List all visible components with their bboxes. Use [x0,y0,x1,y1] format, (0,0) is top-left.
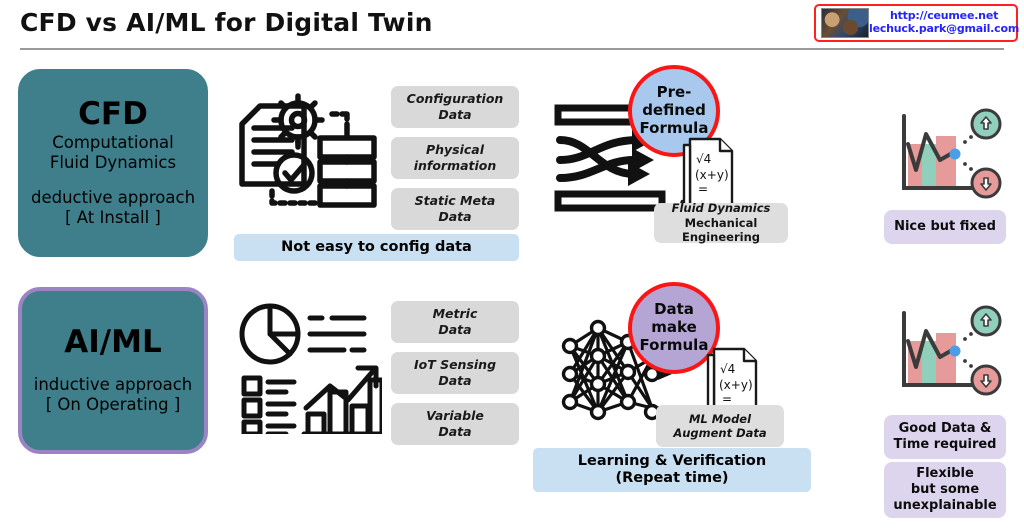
data-pill: Configuration Data [391,86,519,128]
category-subtitle-line1: Computational [52,133,174,153]
data-pill-line2: Data [438,373,471,388]
svg-text:=: = [722,392,732,406]
formula-circle-line1: Data make [651,300,697,336]
trend-chart-up-down-icon [886,108,1004,204]
caption-line1: ML Model [689,412,751,426]
data-pill: Variable Data [391,403,519,445]
banner-line2: (Repeat time) [615,470,728,486]
badge-email[interactable]: lechuck.park@gmail.com [869,23,1019,36]
data-pill-line2: Data [438,424,471,439]
outcome-box: Flexible but some unexplainable [884,462,1006,518]
data-pill: Metric Data [391,301,519,343]
data-pill-line1: Physical [426,142,484,157]
photo-thumbnail-icon [821,8,869,38]
category-box-cfd[interactable]: CFD Computational Fluid Dynamics deducti… [18,69,208,257]
category-approach-line2: [ At Install ] [65,208,161,228]
category-approach-line1: deductive approach [31,188,195,208]
contact-badge: http://ceumee.net lechuck.park@gmail.com [814,4,1018,42]
svg-text:=: = [698,182,708,196]
data-pill-line1: Variable [426,408,484,423]
domain-caption-cfd: Fluid Dynamics Mechanical Engineering [654,203,788,243]
svg-text:√4: √4 [696,152,711,166]
outcome-box: Nice but fixed [884,210,1006,244]
data-pill-line2: Data [438,107,471,122]
category-subtitle-line2: Fluid Dynamics [50,153,176,173]
formula-circle-line2: Formula [640,336,709,354]
outcome-line3: unexplainable [893,498,996,513]
caption-line1: Fluid Dynamics [672,201,771,215]
data-pill-line1: Configuration [407,91,504,106]
page-title: CFD vs AI/ML for Digital Twin [20,8,433,37]
svg-text:(x+y): (x+y) [695,168,729,182]
category-approach-line2: [ On Operating ] [46,395,181,415]
caption-line2: Mechanical Engineering [654,216,788,245]
data-pill-line2: Data [438,322,471,337]
formula-circle-line1: Pre-defined [642,83,706,119]
category-box-aiml[interactable]: AI/ML inductive approach [ On Operating … [18,287,208,454]
outcome-line2: but some [911,482,979,497]
category-acronym: CFD [78,98,148,131]
outcome-line1: Flexible [916,466,974,481]
data-pill: Static Meta Data [391,188,519,230]
data-pill-line1: IoT Sensing [414,357,496,372]
config-gear-document-server-icon [232,88,382,216]
domain-caption-aiml: ML Model Augment Data [656,405,784,447]
outcome-line2: Time required [894,437,997,452]
banner-config-difficulty: Not easy to config data [234,234,519,261]
contact-badge-text: http://ceumee.net lechuck.park@gmail.com [869,10,1019,36]
banner-learning-verification: Learning & Verification (Repeat time) [533,448,811,492]
category-acronym: AI/ML [64,326,161,359]
svg-text:√4: √4 [720,362,735,376]
banner-line1: Learning & Verification [578,453,766,469]
svg-text:(x+y): (x+y) [719,378,753,392]
outcome-box: Good Data & Time required [884,415,1006,459]
data-pill-line2: Data [438,209,471,224]
category-approach-line1: inductive approach [34,375,192,395]
slide-canvas: CFD vs AI/ML for Digital Twin http://ceu… [0,0,1024,532]
trend-chart-up-down-icon [886,305,1004,401]
data-pill: IoT Sensing Data [391,352,519,394]
title-divider [20,48,1004,50]
data-pill-line2: information [414,158,497,173]
row-cfd: CFD Computational Fluid Dynamics deducti… [0,60,1024,280]
outcome-line1: Good Data & [899,421,992,436]
caption-line2: Augment Data [673,426,766,440]
data-pill-line1: Static Meta [415,193,496,208]
analytics-pie-bar-chart-icon [232,302,382,434]
data-pill: Physical information [391,137,519,179]
row-aiml: AI/ML inductive approach [ On Operating … [0,280,1024,532]
data-pill-line1: Metric [433,306,478,321]
